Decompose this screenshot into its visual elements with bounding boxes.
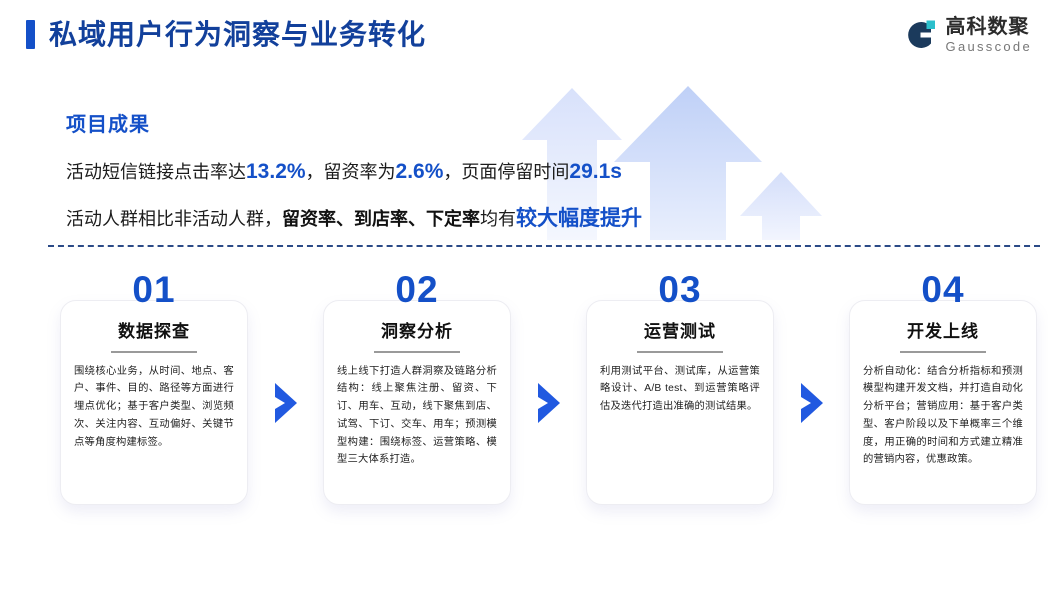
step-title-rule — [637, 351, 723, 353]
step-title-rule — [111, 351, 197, 353]
step-title: 开发上线 — [863, 323, 1023, 342]
metric-lead-rate: 2.6% — [396, 160, 444, 183]
step-number: 03 — [586, 271, 774, 308]
chevron-right-icon-1 — [248, 300, 323, 505]
steps-row: 01 数据探查 围绕核心业务，从时间、地点、客户、事件、目的、路径等方面进行埋点… — [60, 272, 1036, 522]
step-number: 01 — [60, 271, 248, 308]
step-title: 运营测试 — [600, 323, 760, 342]
step-number: 02 — [323, 271, 511, 308]
section-divider — [48, 245, 1040, 247]
results-line2-bold: 留资率、到店率、下定率 — [282, 209, 480, 229]
chevron-right-icon-3 — [774, 300, 849, 505]
slide-root: 私域用户行为洞察与业务转化 高科数聚 Gausscode 项目成果 活动短信链接… — [0, 0, 1048, 591]
results-line-1: 活动短信链接点击率达13.2%，留资率为2.6%，页面停留时间29.1s — [66, 159, 706, 184]
step-card-body[interactable]: 数据探查 围绕核心业务，从时间、地点、客户、事件、目的、路径等方面进行埋点优化；… — [60, 300, 248, 505]
results-line-2: 活动人群相比非活动人群，留资率、到店率、下定率均有较大幅度提升 — [66, 206, 706, 231]
step-card-03[interactable]: 03 运营测试 利用测试平台、测试库，从运营策略设计、A/B test、到运营策… — [586, 272, 774, 505]
results-heading: 项目成果 — [66, 108, 706, 137]
results-line1-seg1: 活动短信链接点击率达 — [66, 162, 246, 182]
page-title: 私域用户行为洞察与业务转化 — [49, 21, 426, 49]
step-number: 04 — [849, 271, 1037, 308]
results-line2-highlight: 较大幅度提升 — [516, 207, 642, 230]
page-header: 私域用户行为洞察与业务转化 — [26, 20, 426, 49]
logo-name-cn: 高科数聚 — [946, 17, 1032, 37]
step-description: 线上线下打造人群洞察及链路分析结构：线上聚焦注册、留资、下订、用车、互动，线下聚… — [337, 363, 497, 469]
step-title: 数据探查 — [74, 323, 234, 342]
results-line1-seg2: ，留资率为 — [306, 162, 396, 182]
results-line1-seg3: ，页面停留时间 — [443, 162, 569, 182]
metric-dwell-time: 29.1s — [569, 160, 622, 183]
brand-logo: 高科数聚 Gausscode — [901, 17, 1032, 53]
logo-wordmark: 高科数聚 Gausscode — [946, 17, 1032, 53]
decor-arrow-right — [740, 172, 822, 240]
results-line2-seg2: 均有 — [480, 209, 516, 229]
step-card-01[interactable]: 01 数据探查 围绕核心业务，从时间、地点、客户、事件、目的、路径等方面进行埋点… — [60, 272, 248, 505]
logo-name-en: Gausscode — [946, 40, 1032, 53]
step-card-body[interactable]: 运营测试 利用测试平台、测试库，从运营策略设计、A/B test、到运营策略评估… — [586, 300, 774, 505]
step-title-rule — [374, 351, 460, 353]
step-card-body[interactable]: 洞察分析 线上线下打造人群洞察及链路分析结构：线上聚焦注册、留资、下订、用车、互… — [323, 300, 511, 505]
step-description: 利用测试平台、测试库，从运营策略设计、A/B test、到运营策略评估及迭代打造… — [600, 363, 760, 416]
step-title-rule — [900, 351, 986, 353]
step-description: 分析自动化：结合分析指标和预测模型构建开发文档，并打造自动化分析平台；营销应用：… — [863, 363, 1023, 469]
step-card-body[interactable]: 开发上线 分析自动化：结合分析指标和预测模型构建开发文档，并打造自动化分析平台；… — [849, 300, 1037, 505]
step-card-02[interactable]: 02 洞察分析 线上线下打造人群洞察及链路分析结构：线上聚焦注册、留资、下订、用… — [323, 272, 511, 505]
step-description: 围绕核心业务，从时间、地点、客户、事件、目的、路径等方面进行埋点优化；基于客户类… — [74, 363, 234, 452]
step-title: 洞察分析 — [337, 323, 497, 342]
step-card-04[interactable]: 04 开发上线 分析自动化：结合分析指标和预测模型构建开发文档，并打造自动化分析… — [849, 272, 1037, 505]
results-line2-seg1: 活动人群相比非活动人群， — [66, 209, 282, 229]
results-block: 项目成果 活动短信链接点击率达13.2%，留资率为2.6%，页面停留时间29.1… — [66, 108, 706, 253]
metric-click-rate: 13.2% — [246, 160, 306, 183]
title-accent-bar — [26, 20, 35, 49]
chevron-right-icon-2 — [511, 300, 586, 505]
logo-mark-icon — [901, 17, 937, 53]
